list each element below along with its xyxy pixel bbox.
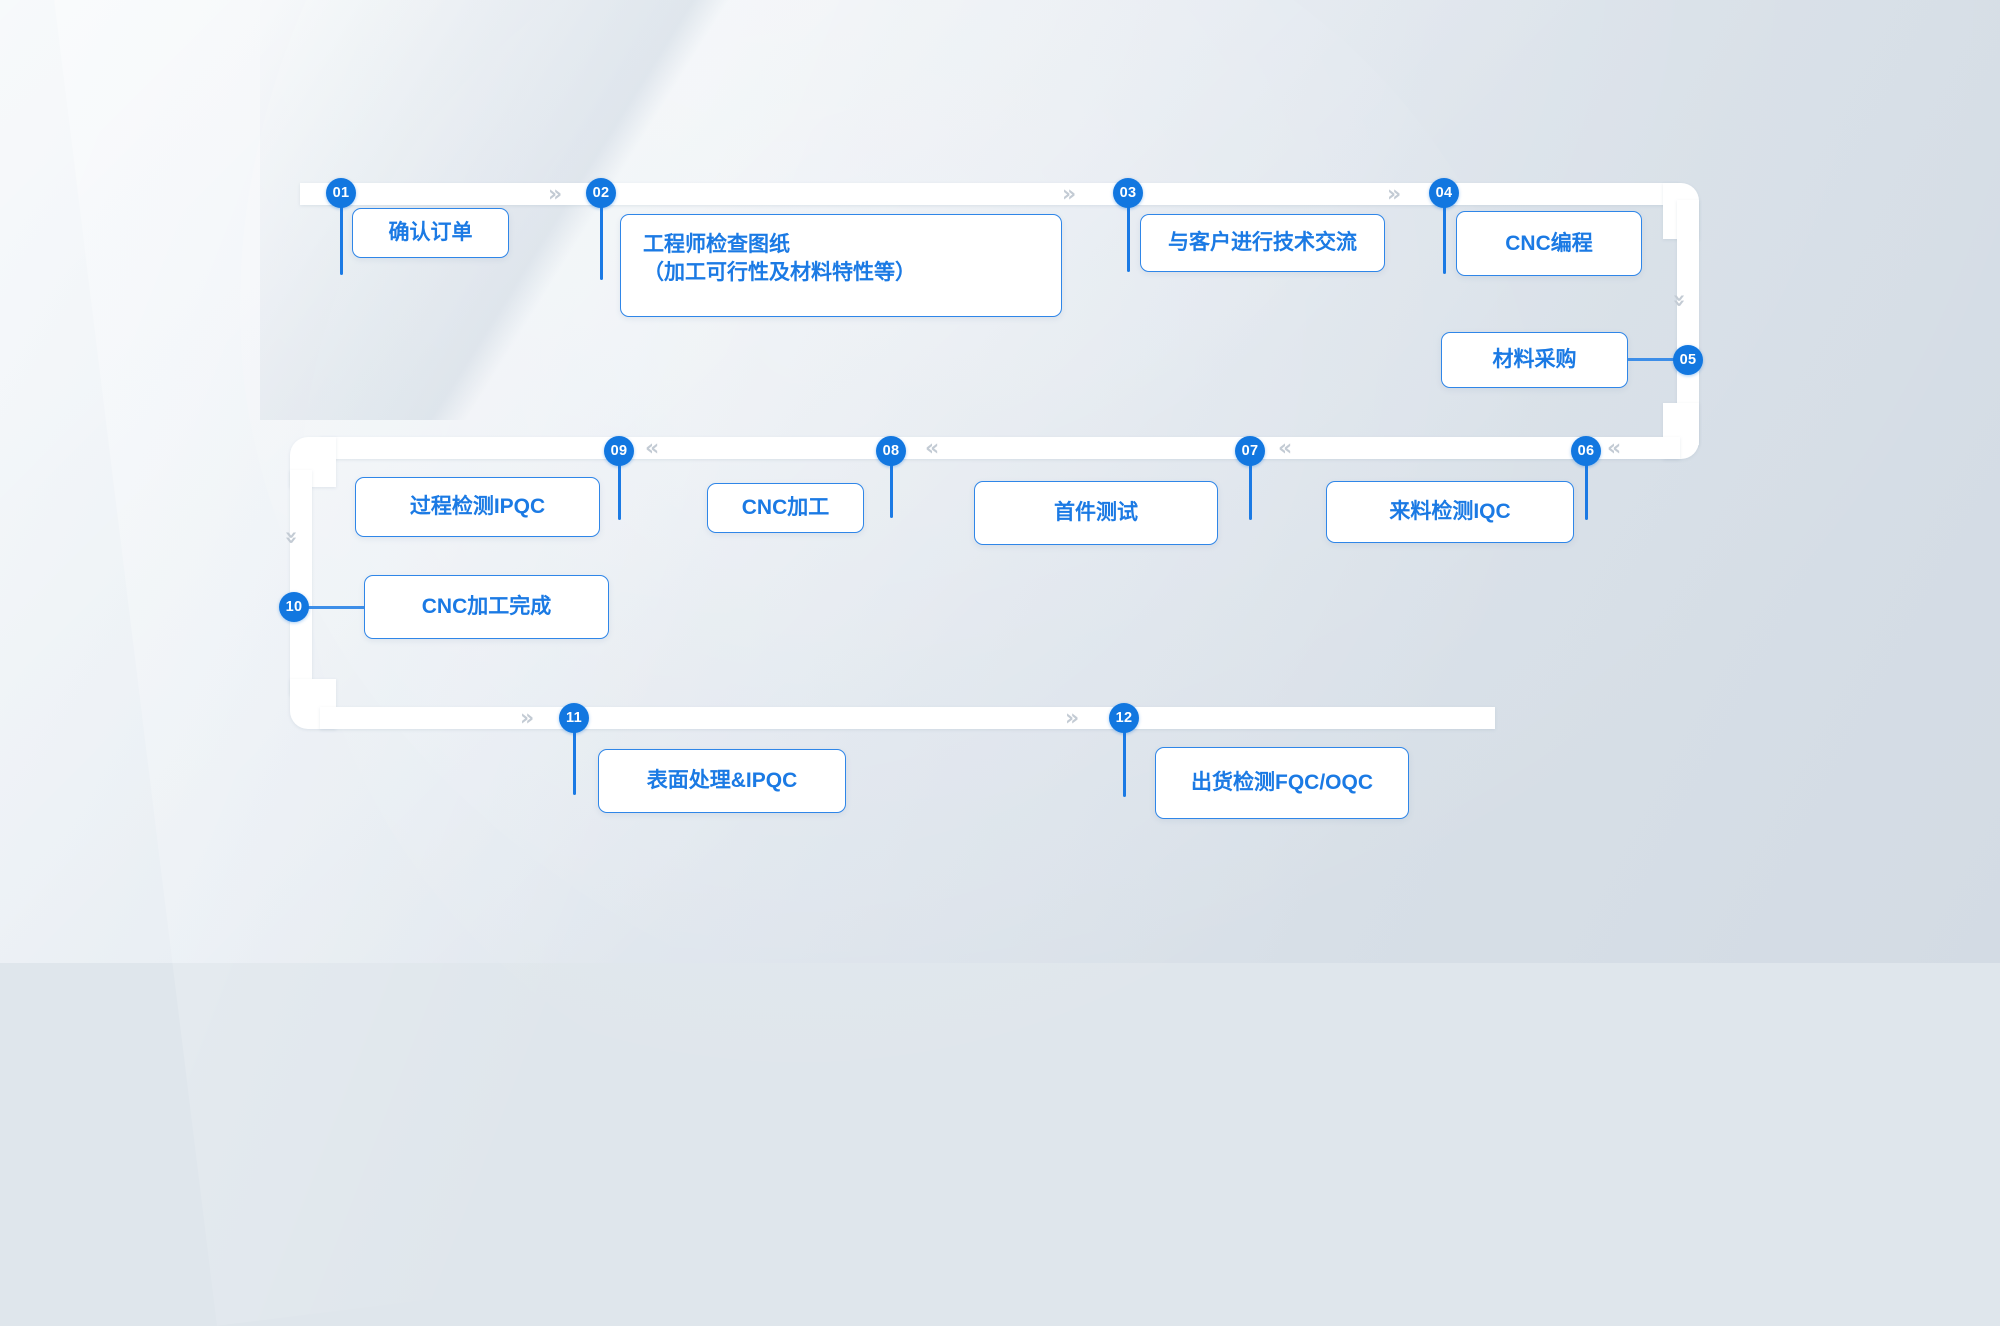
- step-node-08[interactable]: CNC加工: [707, 483, 864, 533]
- track-row-middle: [320, 437, 1680, 459]
- background-sheen-circle: [300, 0, 1550, 1130]
- step-node-06[interactable]: 来料检测IQC: [1326, 481, 1574, 543]
- step-badge-04[interactable]: 04: [1429, 178, 1459, 208]
- chevron-forward-icon-2: »: [1062, 184, 1073, 206]
- flowchart-canvas: » » » » « « « « » » » 01 确认订单 02 工程师检查图纸…: [0, 0, 2000, 963]
- step-label-06: 来料检测IQC: [1389, 498, 1510, 526]
- step-node-11[interactable]: 表面处理&IPQC: [598, 749, 846, 813]
- chevron-forward-icon-5: »: [1065, 708, 1076, 730]
- step-label-03: 与客户进行技术交流: [1168, 229, 1357, 257]
- step-label-04: CNC编程: [1505, 230, 1593, 258]
- chevron-backward-icon-3: «: [925, 438, 936, 460]
- chevron-forward-icon-3: »: [1387, 184, 1398, 206]
- step-badge-12[interactable]: 12: [1109, 703, 1139, 733]
- step-badge-05[interactable]: 05: [1673, 345, 1703, 375]
- step-badge-08[interactable]: 08: [876, 436, 906, 466]
- step-badge-10[interactable]: 10: [279, 592, 309, 622]
- step-badge-11[interactable]: 11: [559, 703, 589, 733]
- track-row-bottom: [320, 707, 1495, 729]
- step-node-02[interactable]: 工程师检查图纸 （加工可行性及材料特性等）: [620, 214, 1062, 317]
- step-label-01: 确认订单: [389, 219, 473, 247]
- step-node-03[interactable]: 与客户进行技术交流: [1140, 214, 1385, 272]
- step-node-01[interactable]: 确认订单: [352, 208, 509, 258]
- chevron-backward-icon-1: «: [1607, 438, 1618, 460]
- step-badge-07[interactable]: 07: [1235, 436, 1265, 466]
- track-column-left: [290, 470, 312, 695]
- stem-10: [300, 606, 370, 609]
- step-label-12: 出货检测FQC/OQC: [1191, 769, 1373, 797]
- step-badge-02[interactable]: 02: [586, 178, 616, 208]
- step-node-07[interactable]: 首件测试: [974, 481, 1218, 545]
- step-label-07: 首件测试: [1054, 499, 1138, 527]
- chevron-down-icon-2: »: [280, 530, 302, 541]
- step-label-05: 材料采购: [1493, 346, 1577, 374]
- step-label-02: 工程师检查图纸 （加工可行性及材料特性等）: [621, 231, 916, 286]
- step-label-10: CNC加工完成: [422, 593, 552, 621]
- step-badge-01[interactable]: 01: [326, 178, 356, 208]
- track-row-top: [300, 183, 1680, 205]
- step-node-05[interactable]: 材料采购: [1441, 332, 1628, 388]
- chevron-forward-icon-4: »: [520, 708, 531, 730]
- chevron-backward-icon-2: «: [1278, 438, 1289, 460]
- step-badge-09[interactable]: 09: [604, 436, 634, 466]
- step-badge-03[interactable]: 03: [1113, 178, 1143, 208]
- step-node-04[interactable]: CNC编程: [1456, 211, 1642, 276]
- step-label-08: CNC加工: [742, 494, 830, 522]
- step-node-10[interactable]: CNC加工完成: [364, 575, 609, 639]
- step-node-12[interactable]: 出货检测FQC/OQC: [1155, 747, 1409, 819]
- chevron-down-icon-1: »: [1668, 293, 1690, 304]
- step-label-09: 过程检测IPQC: [410, 493, 545, 521]
- step-node-09[interactable]: 过程检测IPQC: [355, 477, 600, 537]
- step-badge-06[interactable]: 06: [1571, 436, 1601, 466]
- chevron-backward-icon-4: «: [645, 438, 656, 460]
- chevron-forward-icon-1: »: [548, 184, 559, 206]
- step-label-11: 表面处理&IPQC: [647, 767, 798, 795]
